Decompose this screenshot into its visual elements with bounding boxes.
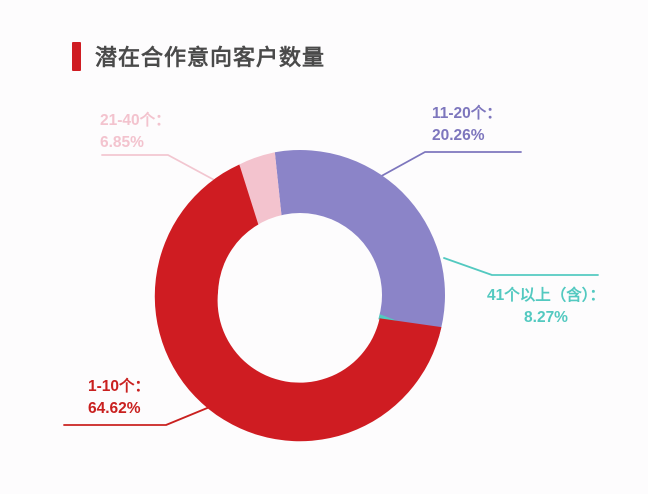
slice-label-1-10: 1-10个： 64.62% xyxy=(88,376,150,420)
slice-label-11-20-name: 11-20个： xyxy=(432,105,502,122)
leader-line-purple xyxy=(376,152,521,179)
leader-line-teal xyxy=(444,258,598,275)
leader-line-pink xyxy=(102,155,218,182)
slice-label-21-40: 21-40个： 6.85% xyxy=(100,110,171,154)
donut-chart: 21-40个： 6.85% 11-20个： 20.26% 41个以上（含）： 8… xyxy=(0,0,648,494)
chart-page: 潜在合作意向客户数量 21-40个： 6.85% xyxy=(0,0,648,494)
slice-label-1-10-name: 1-10个： xyxy=(88,378,150,395)
slice-label-11-20-value: 20.26% xyxy=(432,125,502,147)
slice-label-21-40-name: 21-40个： xyxy=(100,112,171,129)
slice-label-41-plus-name: 41个以上（含）： xyxy=(487,287,605,304)
slice-label-11-20: 11-20个： 20.26% xyxy=(432,103,502,147)
slice-label-41-plus: 41个以上（含）： 8.27% xyxy=(487,285,605,329)
donut-hole xyxy=(218,213,382,377)
slice-label-1-10-value: 64.62% xyxy=(88,398,150,420)
slice-label-21-40-value: 6.85% xyxy=(100,132,171,154)
slice-label-41-plus-value: 8.27% xyxy=(487,307,605,329)
